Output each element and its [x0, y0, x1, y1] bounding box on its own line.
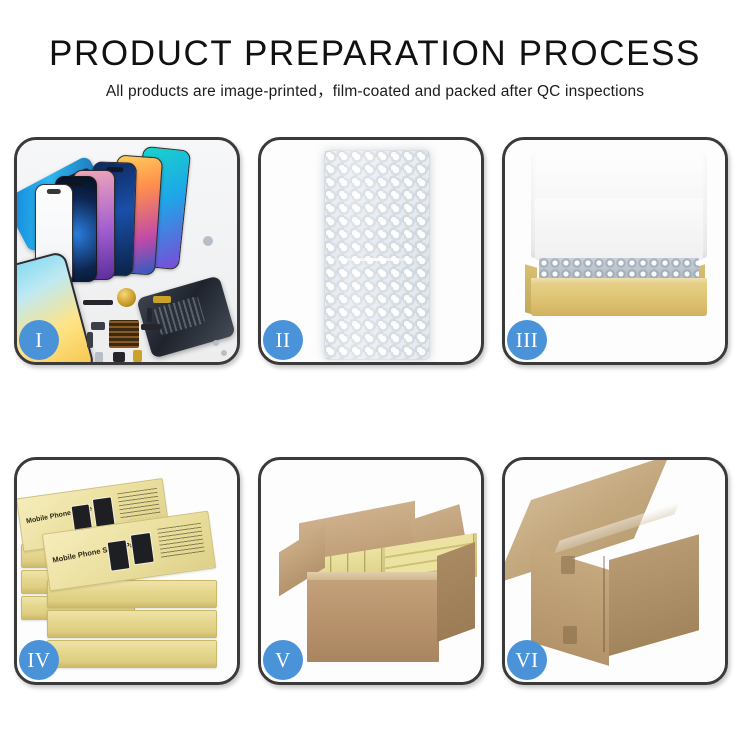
carton-corner-seam: [603, 556, 605, 652]
box-edge: [48, 630, 216, 637]
step-panel-2: II: [258, 137, 484, 365]
camera-part-icon: [113, 352, 125, 362]
flex-cable-part-icon: [153, 296, 171, 303]
step-panel-1: I: [14, 137, 240, 365]
step-badge-5: V: [263, 640, 303, 680]
stacked-box: [47, 610, 217, 638]
step-panel-6: VI: [502, 457, 728, 685]
box-product-image: [130, 532, 155, 566]
page-subtitle: All products are image-printed，film-coat…: [0, 81, 750, 103]
flex-cable-part-icon: [83, 300, 113, 305]
box-product-image: [107, 539, 131, 571]
connector-board-part-icon: [109, 320, 139, 348]
step-panel-3: III: [502, 137, 728, 365]
small-part-icon: [133, 350, 142, 362]
bubble-wrap-icon: [324, 150, 430, 360]
step-panel-5: V: [258, 457, 484, 685]
phone-notch-icon: [68, 181, 84, 186]
carton-side-panel: [437, 542, 475, 642]
speaker-part-icon: [117, 288, 136, 307]
stacked-box: [47, 640, 217, 668]
carton-flap-tab: [563, 626, 577, 644]
carton-side-panel: [609, 534, 699, 656]
small-part-icon: [147, 308, 152, 322]
step-panel-4: Mobile Phone Spare Parts Mobile Phone Sp…: [14, 457, 240, 685]
screw-part-icon: [221, 350, 227, 356]
small-part-icon: [91, 322, 105, 330]
box-edge: [48, 660, 216, 667]
foam-insert-icon: [535, 198, 703, 260]
small-part-icon: [87, 332, 93, 348]
sim-tray-part-icon: [95, 352, 103, 362]
step-badge-3: III: [507, 320, 547, 360]
step-badge-1: I: [19, 320, 59, 360]
box-front-panel: [531, 284, 707, 316]
screw-part-icon: [203, 236, 213, 246]
screw-part-icon: [213, 340, 219, 346]
phone-notch-icon: [47, 189, 61, 194]
step-badge-2: II: [263, 320, 303, 360]
header: PRODUCT PREPARATION PROCESS All products…: [0, 34, 750, 103]
step-badge-4: IV: [19, 640, 59, 680]
step-badge-6: VI: [507, 640, 547, 680]
carton-flap-tab: [561, 556, 575, 574]
box-edge: [48, 600, 216, 607]
carton-front-panel: [307, 580, 439, 662]
bubble-wrap-seam: [324, 258, 428, 261]
steps-grid: I II III: [14, 137, 736, 685]
box-spec-lines: [157, 523, 205, 559]
small-part-icon: [141, 324, 161, 330]
box-spec-lines: [117, 488, 161, 521]
page-title: PRODUCT PREPARATION PROCESS: [0, 34, 750, 74]
product-preparation-infographic: PRODUCT PREPARATION PROCESS All products…: [0, 0, 750, 750]
